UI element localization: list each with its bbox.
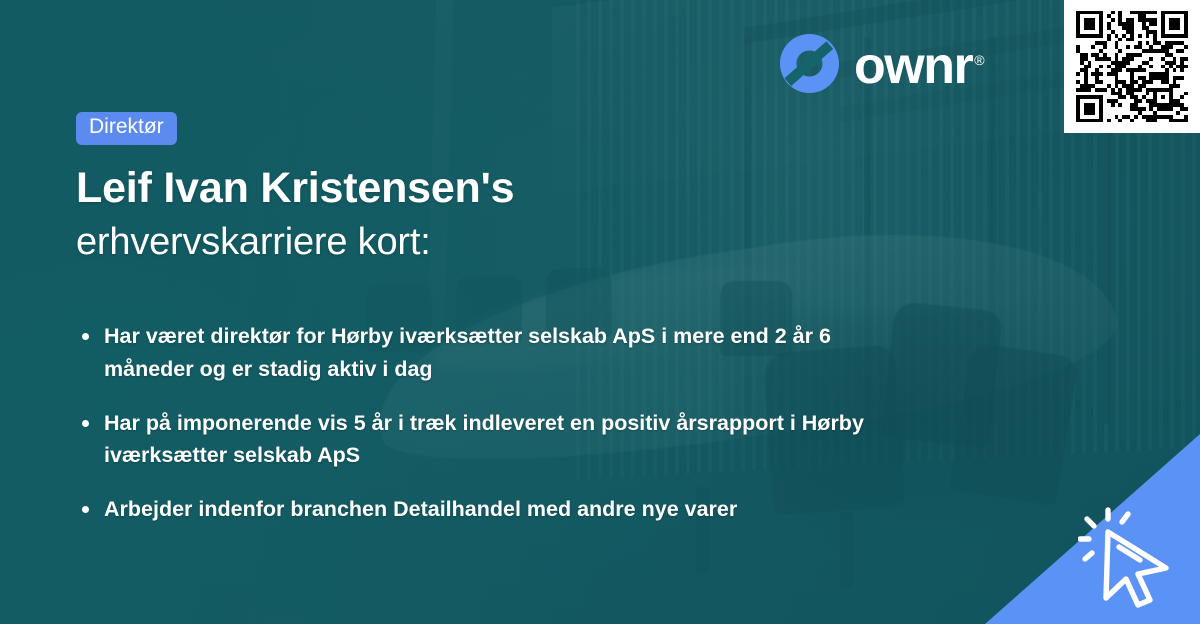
ownr-wordmark: ownr® (854, 40, 981, 92)
qr-code[interactable] (1064, 0, 1200, 133)
highlight-item: Arbejder indenfor branchen Detailhandel … (76, 493, 866, 526)
role-badge: Direktør (76, 112, 177, 145)
page-title: Leif Ivan Kristensen's (76, 164, 976, 213)
ownr-wordmark-text: ownr (854, 37, 972, 95)
ownr-logo[interactable]: ownr® (778, 32, 981, 95)
ownr-circle-swirl-logo-icon (778, 32, 841, 95)
registered-trademark-icon: ® (974, 52, 983, 68)
qr-code-grid (1076, 11, 1188, 123)
highlight-item: Har været direktør for Hørby iværksætter… (76, 320, 866, 385)
click-cursor-icon (1078, 506, 1182, 610)
highlights-list: Har været direktør for Hørby iværksætter… (76, 320, 976, 525)
page-subtitle: erhvervskarriere kort: (76, 220, 976, 266)
highlight-item: Har på imponerende vis 5 år i træk indle… (76, 407, 866, 472)
career-card: ownr® Direktør Leif Ivan Kristensen's er… (0, 0, 1200, 624)
